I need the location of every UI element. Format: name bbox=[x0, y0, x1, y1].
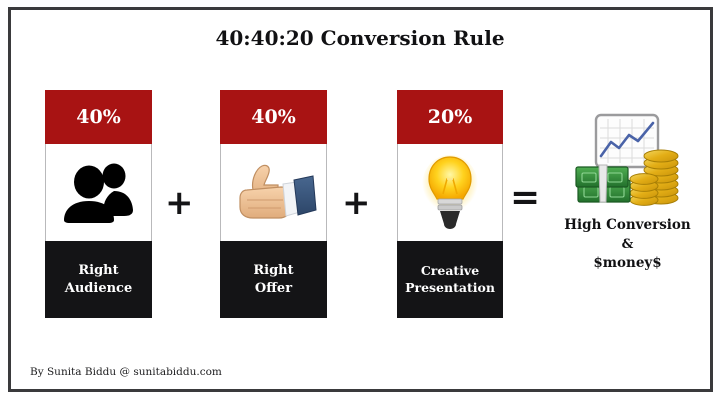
card-icon-area bbox=[220, 144, 327, 241]
card-creative-presentation[interactable]: 20% bbox=[397, 90, 503, 318]
card-label-line2: Audience bbox=[65, 281, 132, 296]
page-title: 40:40:20 Conversion Rule bbox=[0, 26, 720, 50]
card-label: Right Offer bbox=[220, 241, 327, 318]
lightbulb-icon bbox=[421, 154, 479, 232]
people-icon bbox=[62, 162, 136, 224]
card-icon-area bbox=[45, 144, 152, 241]
result-block: High Conversion & $money$ bbox=[545, 112, 710, 274]
money-chart-icon bbox=[574, 112, 682, 208]
credit-line: By Sunita Biddu @ sunitabiddu.com bbox=[30, 366, 222, 378]
card-label-line2: Offer bbox=[255, 281, 292, 296]
plus-operator-2: + bbox=[342, 186, 371, 220]
card-label-line1: Right bbox=[78, 263, 118, 278]
result-caption: High Conversion & $money$ bbox=[545, 216, 710, 274]
card-label: Right Audience bbox=[45, 241, 152, 318]
card-right-audience[interactable]: 40% Right Audience bbox=[45, 90, 152, 318]
result-line-2: & bbox=[545, 236, 710, 255]
card-label-line2: Presentation bbox=[405, 280, 495, 295]
card-label-line1: Creative bbox=[421, 263, 479, 278]
thumbs-up-icon bbox=[231, 160, 317, 226]
result-line-3: $money$ bbox=[545, 254, 710, 274]
infographic-canvas: 40:40:20 Conversion Rule 40% Right Audie… bbox=[0, 0, 720, 400]
card-percent-badge: 40% bbox=[220, 90, 327, 144]
card-label-line1: Right bbox=[253, 263, 293, 278]
plus-operator-1: + bbox=[165, 186, 194, 220]
equals-operator: = bbox=[510, 180, 540, 216]
card-label: Creative Presentation bbox=[397, 241, 503, 318]
card-percent-badge: 40% bbox=[45, 90, 152, 144]
result-line-1: High Conversion bbox=[545, 216, 710, 236]
card-right-offer[interactable]: 40% bbox=[220, 90, 327, 318]
card-percent-badge: 20% bbox=[397, 90, 503, 144]
card-icon-area bbox=[397, 144, 503, 241]
